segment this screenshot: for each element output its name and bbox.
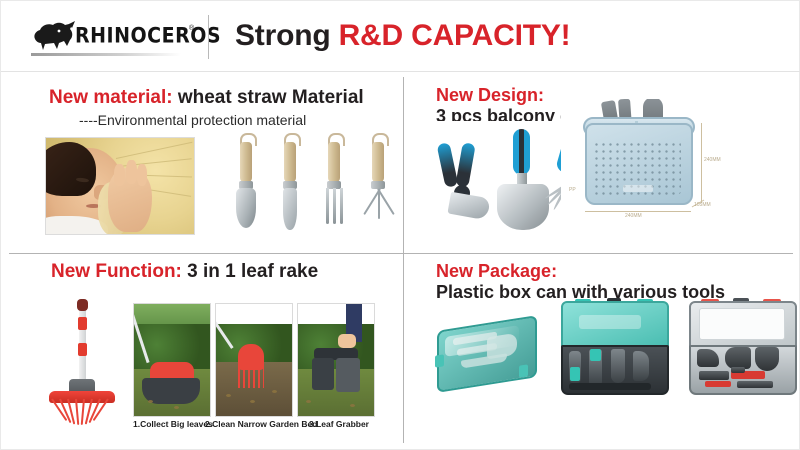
tool-wooden-handle-trowel [231,131,261,235]
action-photo-leaf-grabber [297,303,375,417]
page-title: Strong R&D CAPACITY! [235,19,570,53]
plastic-storage-basket: 240MM 240MM 105MM PP [561,99,741,229]
basket-logo-plate [623,185,653,192]
action-photo-collect-big-leaves [133,303,211,417]
logo-underline [31,53,181,56]
subtitle-environmental: ----Environmental protection material [79,112,306,128]
heading-label-red: New material: [49,87,173,108]
slide-canvas: RHINOCEROS ® Strong R&D CAPACITY! New ma… [0,0,800,450]
photo-caption-2: 2.Clean Narrow Garden Bed [205,419,317,429]
heading-label-red: New Function: [51,261,182,282]
hand-shape [108,168,152,232]
vertical-divider [403,77,404,443]
open-grey-tool-case [685,299,797,395]
heading-label-red: New Package: [436,261,725,282]
tool-wooden-handle-transplanter [275,131,305,235]
tool-blue-grip-trowel [495,129,557,229]
dimension-line-height [701,123,702,203]
quadrant-new-material: New material: wheat straw Material ----E… [9,79,401,251]
dimension-label-width: 240MM [625,213,642,219]
quadrant-new-design: New Design: 3 pcs balcony garden tools s… [411,79,793,251]
tool-wooden-handle-hand-fork [319,131,349,235]
header-divider [208,15,209,59]
dimension-line-width [585,211,691,212]
photo-caption-3: 3.Leaf Grabber [309,419,369,429]
dimension-label-material: PP [569,187,576,193]
trademark-symbol: ® [189,25,194,32]
heading-new-package: New Package: Plastic box can with variou… [436,261,725,303]
title-black-part: Strong [235,19,330,52]
quadrant-new-function: New Function: 3 in 1 leaf rake [9,257,401,443]
slide-header: RHINOCEROS ® Strong R&D CAPACITY! [1,1,800,73]
quadrant-new-package: New Package: Plastic box can with variou… [411,257,793,443]
title-red-part: R&D CAPACITY! [339,19,571,52]
dimension-label-depth: 105MM [694,202,711,208]
wheat-field-photo [45,137,195,235]
photo-caption-1: 1.Collect Big leaves [133,419,213,429]
heading-label-black: wheat straw Material [178,87,364,108]
rhinoceros-icon [29,19,77,53]
brand-logo: RHINOCEROS ® [29,17,199,61]
heading-new-material: New material: wheat straw Material [49,87,364,109]
closed-teal-tool-case [431,313,539,391]
wooden-tools-group [223,131,399,235]
hair-shape [45,142,96,196]
tool-wooden-handle-cultivator [363,131,393,235]
horizontal-divider [9,253,793,254]
leaf-rake-product [35,299,131,425]
open-teal-tool-case [557,299,669,395]
action-photo-clean-narrow-garden-bed [215,303,293,417]
heading-label-black: 3 in 1 leaf rake [187,261,318,282]
tool-pruning-shears [435,143,491,223]
logo-wordmark: RHINOCEROS [75,24,221,49]
header-rule [1,71,800,72]
dimension-label-height: 240MM [704,157,721,163]
heading-new-function: New Function: 3 in 1 leaf rake [51,261,318,283]
